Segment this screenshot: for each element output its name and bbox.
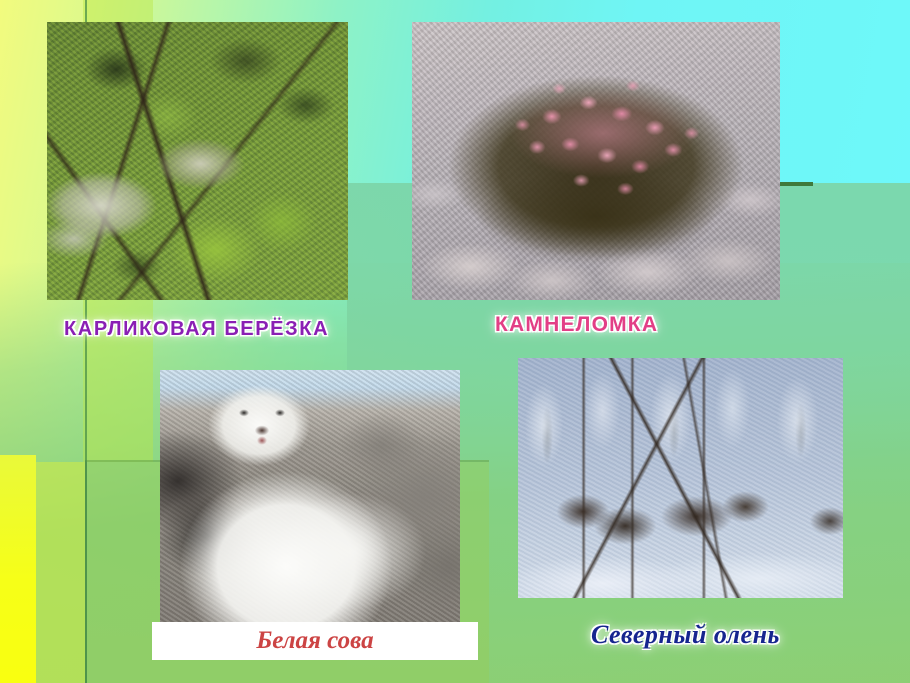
saxifrage-photo <box>412 22 780 300</box>
dwarf-birch-photo-pixels <box>47 22 348 300</box>
background-yellow-stripe <box>0 455 36 683</box>
background-accent-line <box>780 182 813 186</box>
saxifrage-photo-pixels <box>412 22 780 300</box>
reindeer-photo <box>518 358 843 598</box>
presentation-slide: КАРЛИКОВАЯ БЕРЁЗКА КАМНЕЛОМКА Белая сова… <box>0 0 910 683</box>
snowy-owl-photo <box>160 370 460 622</box>
background-lime-panel-lower-left <box>33 462 85 683</box>
dwarf-birch-photo <box>47 22 348 300</box>
caption-plate-snowy-owl <box>152 622 478 660</box>
snowy-owl-photo-pixels <box>160 370 460 622</box>
reindeer-photo-pixels <box>518 358 843 598</box>
